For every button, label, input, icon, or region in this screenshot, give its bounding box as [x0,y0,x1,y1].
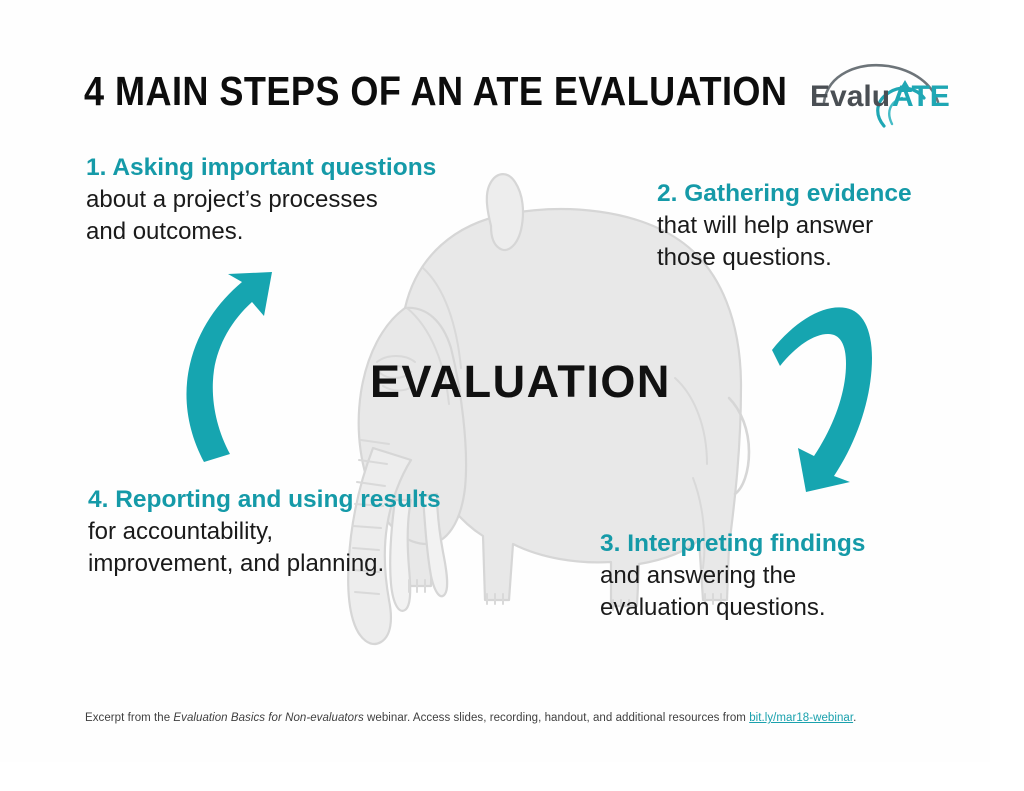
step-4-body-line-2: improvement, and planning. [88,548,441,580]
footer-prefix: Excerpt from the [85,712,173,724]
step-2-heading: 2. Gathering evidence [657,178,912,210]
footer-middle: webinar. Access slides, recording, hando… [364,712,749,724]
footer-credit: Excerpt from the Evaluation Basics for N… [85,712,856,724]
step-1-block: 1. Asking important questions about a pr… [86,152,436,248]
step-2-block: 2. Gathering evidence that will help ans… [657,178,912,274]
footer-suffix: . [853,712,856,724]
logo-text-dark: Evalu [810,80,890,113]
step-1-body-line-2: and outcomes. [86,216,436,248]
step-2-body-line-1: that will help answer [657,210,912,242]
logo-text-accent: ATE [892,80,950,113]
step-4-block: 4. Reporting and using results for accou… [88,484,441,580]
step-4-heading: 4. Reporting and using results [88,484,441,516]
evaluate-logo: Evalu ATE [806,58,982,128]
step-1-heading: 1. Asking important questions [86,152,436,184]
step-4-body-line-1: for accountability, [88,516,441,548]
step-2-body-line-2: those questions. [657,242,912,274]
page-title: 4 MAIN STEPS OF AN ATE EVALUATION [84,68,787,115]
slide: 4 MAIN STEPS OF AN ATE EVALUATION Evalu … [0,0,1024,791]
step-3-body-line-2: evaluation questions. [600,592,865,624]
step-3-body-line-1: and answering the [600,560,865,592]
center-label-evaluation: EVALUATION [370,356,671,408]
step-3-block: 3. Interpreting findings and answering t… [600,528,865,624]
footer-link[interactable]: bit.ly/mar18-webinar [749,712,853,724]
step-1-body-line-1: about a project’s processes [86,184,436,216]
footer-webinar-title: Evaluation Basics for Non-evaluators [173,712,363,724]
step-3-heading: 3. Interpreting findings [600,528,865,560]
